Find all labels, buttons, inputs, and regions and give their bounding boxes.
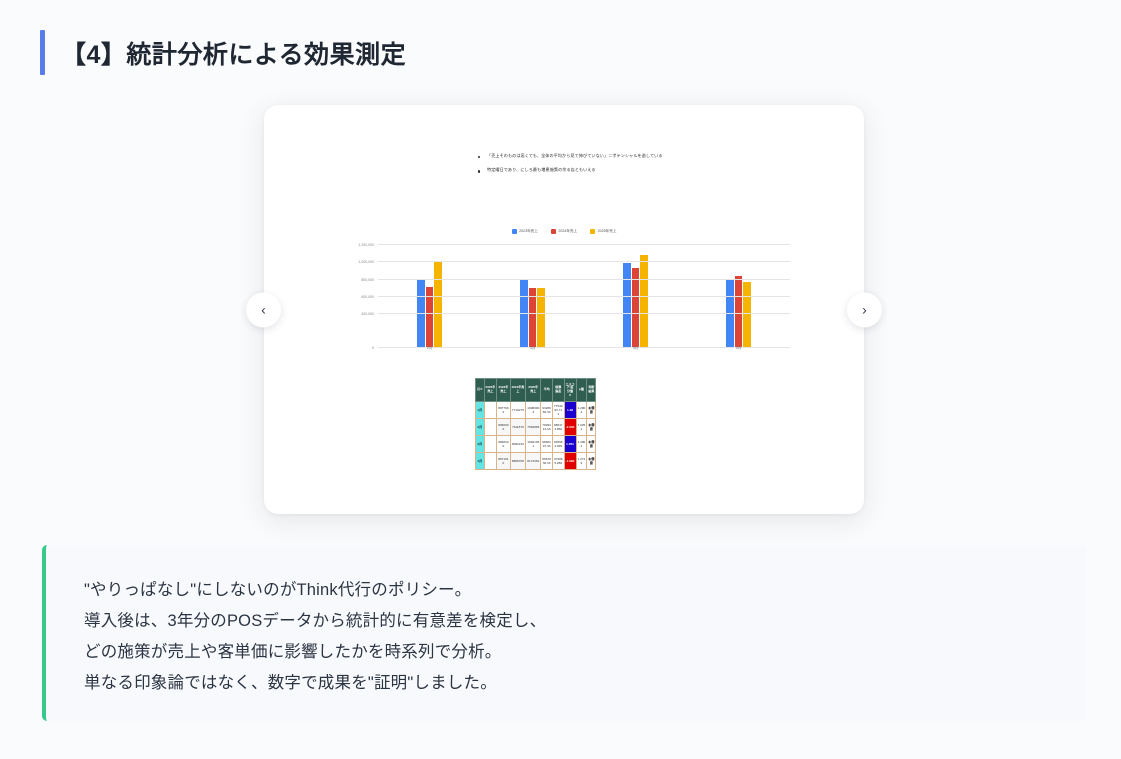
- table-column-header: 2023年売上: [484, 379, 497, 402]
- table-cell: 1月: [476, 402, 485, 419]
- table-cell: 本需要: [587, 419, 596, 436]
- slide-bullet-list: 「売上そのものは高くても、全体の平均から見て伸びていない」＝ポテンシャルを逃して…: [474, 153, 764, 182]
- table-body: 1月88779027710275100830039328060.33775409…: [476, 402, 596, 470]
- statistics-table: 月①2023年売上2023年売上2024年売上2025年売上平均標準偏差エスコア…: [475, 378, 596, 470]
- table-cell: 3月: [476, 436, 485, 453]
- legend-item: 2023年売上: [512, 229, 538, 234]
- table-cell: [484, 402, 497, 419]
- slide-image: 「売上そのものは高くても、全体の平均から見て伸びていない」＝ポテンシャルを逃して…: [322, 125, 806, 494]
- carousel-next-button[interactable]: ›: [847, 292, 882, 327]
- table-row: 3月98483209082210109219519860197.33925684…: [476, 436, 596, 453]
- page-root: 【4】統計分析による効果測定 「売上そのものは高くても、全体の平均から見て伸びて…: [0, 0, 1121, 759]
- legend-swatch-icon: [590, 229, 595, 234]
- list-item: 特定曜日であり、にしろ最も増患施策の余る店ともいえる: [474, 167, 764, 173]
- table-cell: 7611879: [510, 419, 526, 436]
- chart-y-tick-label: 600,000: [361, 295, 374, 299]
- chart-plot-area: 1,200,0001,000,000800,000600,000400,0000: [378, 240, 790, 348]
- chevron-left-icon: ‹: [261, 303, 266, 317]
- table-cell: -2.603: [564, 419, 576, 436]
- table-cell: 7.0251: [576, 419, 587, 436]
- table-cell: 8877902: [497, 402, 510, 419]
- table-column-header: 平均: [541, 379, 553, 402]
- table-column-header: 月①: [476, 379, 485, 402]
- page-title: 【4】統計分析による効果測定: [61, 35, 406, 71]
- table-cell: 9860197.33: [541, 436, 553, 453]
- table-column-header: 判断結果: [587, 379, 596, 402]
- note-line: 導入後は、3年分のPOSデータから統計的に有意差を検定し、: [84, 606, 1086, 637]
- chart-bar-group: [623, 240, 648, 347]
- table-cell: 9082210: [510, 436, 526, 453]
- chart-y-tick-label: 1,000,000: [358, 260, 374, 264]
- chart-bar: [537, 288, 545, 347]
- table-cell: 1.2749: [576, 453, 587, 470]
- legend-swatch-icon: [551, 229, 556, 234]
- table-cell: -1.082: [564, 453, 576, 470]
- table-column-header: エスコア/差分値②: [564, 379, 576, 402]
- table-column-header: 標準偏差: [552, 379, 564, 402]
- chart-x-tick-label: 5月: [736, 346, 742, 351]
- chart-y-tick-label: 1,200,000: [358, 243, 374, 247]
- table-cell: 7710275: [510, 402, 526, 419]
- table-cell: 本需要: [587, 436, 596, 453]
- table-cell: 1.2802: [576, 436, 587, 453]
- table-column-header: p値: [576, 379, 587, 402]
- table-cell: 9848320: [497, 436, 510, 453]
- table-header-row: 月①2023年売上2023年売上2024年売上2025年売上平均標準偏差エスコア…: [476, 379, 596, 402]
- legend-label: 2023年売上: [519, 229, 538, 234]
- table-cell: 本需要: [587, 402, 596, 419]
- table-cell: [484, 453, 497, 470]
- legend-label: 2025年売上: [598, 229, 617, 234]
- note-text-container: "やりっぱなし"にしないのがThink代行のポリシー。 導入後は、3年分のPOS…: [46, 545, 1086, 699]
- chart-gridline: 1,200,000: [378, 244, 790, 245]
- legend-label: 2024年売上: [558, 229, 577, 234]
- table-cell: 10921951: [526, 436, 541, 453]
- chart-gridline: 800,000: [378, 279, 790, 280]
- chart-bar: [743, 282, 751, 347]
- table-column-header: 2024年売上: [510, 379, 526, 402]
- legend-item: 2025年売上: [590, 229, 616, 234]
- table-cell: 10083003: [526, 402, 541, 419]
- chart-y-tick-label: 800,000: [361, 278, 374, 282]
- chart-bar-group: [726, 240, 751, 347]
- table-row: 2月8960000761187975498837909414.33988474.…: [476, 419, 596, 436]
- note-line: どの施策が売上や客単価に影響したかを時系列で分析。: [84, 637, 1086, 668]
- table-cell: 8173481: [526, 453, 541, 470]
- chart-y-tick-label: 0: [372, 346, 374, 350]
- list-item: 「売上そのものは高くても、全体の平均から見て伸びていない」＝ポテンシャルを逃して…: [474, 153, 764, 159]
- note-line: 単なる印象論ではなく、数字で成果を"証明"しました。: [84, 668, 1086, 699]
- table-cell: 925684.999: [552, 436, 564, 453]
- chart-x-tick-label: 3月: [530, 346, 536, 351]
- chart-bar: [632, 268, 640, 347]
- table-column-header: 2025年売上: [526, 379, 541, 402]
- section-heading: 【4】統計分析による効果測定: [40, 30, 406, 75]
- chart-bar-groups: [378, 240, 790, 347]
- chevron-right-icon: ›: [862, 303, 867, 317]
- table-cell: 7754093.711: [552, 402, 564, 419]
- table-cell: 9328060.33: [541, 402, 553, 419]
- chart-bar-group: [417, 240, 442, 347]
- chart-bar: [623, 263, 631, 347]
- carousel-prev-button[interactable]: ‹: [246, 292, 281, 327]
- note-line: "やりっぱなし"にしないのがThink代行のポリシー。: [84, 575, 1086, 606]
- slide-carousel: 「売上そのものは高くても、全体の平均から見て伸びていない」＝ポテンシャルを逃して…: [264, 105, 864, 514]
- chart-bar: [434, 261, 442, 347]
- chart-gridline: 1,000,000: [378, 261, 790, 262]
- policy-note-block: "やりっぱなし"にしないのがThink代行のポリシー。 導入後は、3年分のPOS…: [42, 545, 1086, 721]
- chart-bar: [640, 255, 648, 347]
- table-header: 月①2023年売上2023年売上2024年売上2025年売上平均標準偏差エスコア…: [476, 379, 596, 402]
- sales-bar-chart: 2023年売上2024年売上2025年売上 1,200,0001,000,000…: [330, 225, 798, 357]
- table-cell: 8868708: [510, 453, 526, 470]
- table-row: 4月8871910886870881734818587930.33379885.…: [476, 453, 596, 470]
- table-cell: 1.49: [564, 402, 576, 419]
- table-cell: 本需要: [587, 453, 596, 470]
- table-cell: [484, 436, 497, 453]
- table-column-header: 2023年売上: [497, 379, 510, 402]
- table-cell: 379885.286: [552, 453, 564, 470]
- chart-y-tick-label: 400,000: [361, 312, 374, 316]
- legend-item: 2024年売上: [551, 229, 577, 234]
- table-cell: 1.2804: [576, 402, 587, 419]
- table-cell: 988474.850: [552, 419, 564, 436]
- chart-gridline: 400,000: [378, 313, 790, 314]
- chart-bar-group: [520, 240, 545, 347]
- legend-swatch-icon: [512, 229, 517, 234]
- table-cell: 8871910: [497, 453, 510, 470]
- table-cell: 7909414.33: [541, 419, 553, 436]
- table-cell: 4月: [476, 453, 485, 470]
- table-cell: 7549883: [526, 419, 541, 436]
- chart-x-axis-labels: 2月3月4月5月: [378, 346, 790, 351]
- table-cell: 8587930.33: [541, 453, 553, 470]
- table-row: 1月88779027710275100830039328060.33775409…: [476, 402, 596, 419]
- chart-bar: [529, 288, 537, 347]
- table-cell: 8960000: [497, 419, 510, 436]
- table-cell: [484, 419, 497, 436]
- chart-bar: [735, 276, 743, 347]
- table-cell: 1.051: [564, 436, 576, 453]
- chart-x-tick-label: 4月: [633, 346, 639, 351]
- heading-accent-bar: [40, 30, 45, 75]
- chart-gridline: 600,000: [378, 296, 790, 297]
- chart-legend: 2023年売上2024年売上2025年売上: [330, 225, 798, 237]
- chart-x-tick-label: 2月: [427, 346, 433, 351]
- table-cell: 2月: [476, 419, 485, 436]
